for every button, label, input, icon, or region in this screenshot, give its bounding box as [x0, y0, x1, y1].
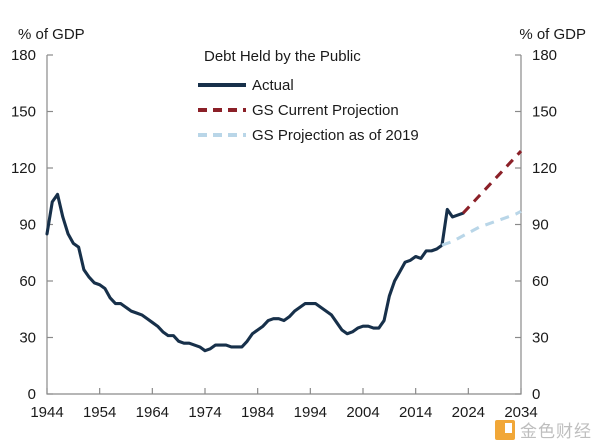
svg-text:90: 90 [532, 217, 549, 234]
svg-text:2024: 2024 [452, 404, 485, 421]
svg-text:120: 120 [532, 160, 557, 177]
watermark-logo-icon [495, 420, 515, 440]
svg-text:30: 30 [19, 330, 36, 347]
legend-swatch-actual [198, 83, 246, 87]
svg-text:1974: 1974 [188, 404, 221, 421]
legend-swatch-gs-2019 [198, 133, 246, 137]
chart-legend: Debt Held by the Public Actual GS Curren… [198, 48, 498, 149]
svg-text:1994: 1994 [294, 404, 327, 421]
legend-label-gs-current: GS Current Projection [252, 102, 399, 119]
svg-text:0: 0 [532, 386, 540, 403]
legend-title: Debt Held by the Public [204, 48, 498, 65]
svg-text:30: 30 [532, 330, 549, 347]
svg-text:120: 120 [11, 160, 36, 177]
svg-text:1944: 1944 [30, 404, 63, 421]
series-line-actual [47, 194, 463, 350]
legend-item-actual: Actual [198, 74, 498, 96]
watermark-text: 金色财经 [520, 417, 592, 442]
legend-swatch-gs-current [198, 108, 246, 112]
svg-text:1964: 1964 [136, 404, 169, 421]
svg-text:60: 60 [532, 273, 549, 290]
chart-container: % of GDP % of GDP 0030306060909012012015… [0, 0, 600, 448]
svg-text:1984: 1984 [241, 404, 274, 421]
svg-text:180: 180 [532, 47, 557, 64]
svg-text:150: 150 [11, 104, 36, 121]
watermark: 金色财经 [495, 417, 592, 442]
svg-text:0: 0 [28, 386, 36, 403]
svg-text:180: 180 [11, 47, 36, 64]
data-series-group [47, 151, 521, 351]
svg-text:1954: 1954 [83, 404, 116, 421]
svg-text:150: 150 [532, 104, 557, 121]
series-line-gs-current-projection [463, 151, 521, 213]
svg-text:2014: 2014 [399, 404, 432, 421]
legend-label-gs-2019: GS Projection as of 2019 [252, 127, 419, 144]
svg-text:90: 90 [19, 217, 36, 234]
svg-text:2004: 2004 [346, 404, 379, 421]
legend-item-gs-current: GS Current Projection [198, 99, 498, 121]
legend-label-actual: Actual [252, 77, 294, 94]
svg-text:60: 60 [19, 273, 36, 290]
legend-item-gs-2019: GS Projection as of 2019 [198, 124, 498, 146]
